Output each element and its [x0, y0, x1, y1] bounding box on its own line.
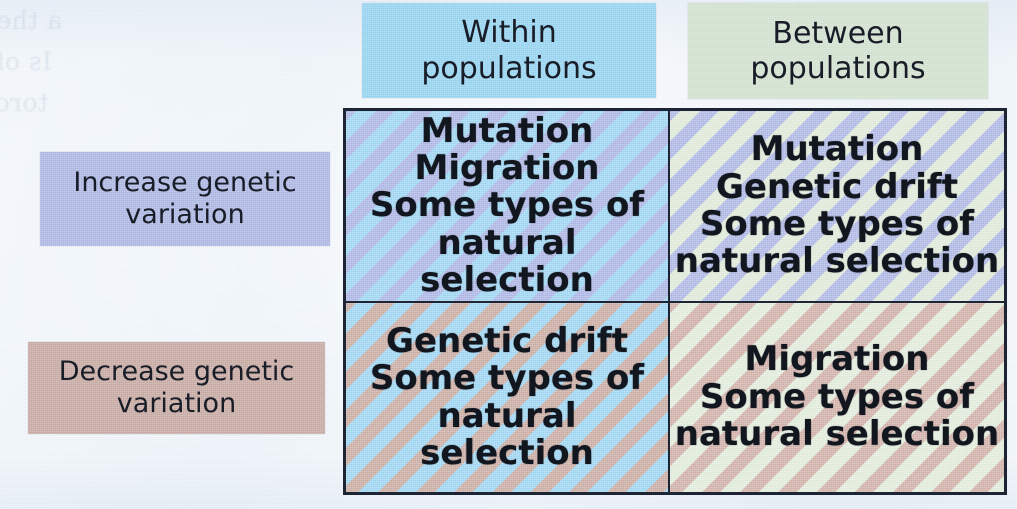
column-header-within-populations: Within populations	[362, 3, 656, 98]
column-header-between-populations: Between populations	[688, 3, 988, 99]
cell-text-line: Some types of	[350, 360, 664, 397]
row-label-increase-line2: variation	[73, 199, 296, 231]
column-header-within-line1: Within	[421, 15, 596, 50]
cell-text-line: Some types of	[675, 379, 999, 416]
cell-text-line: Some types of	[675, 206, 999, 243]
cell-text-line: Genetic drift	[350, 323, 664, 360]
matrix-table: Mutation Migration Some types of natural…	[343, 108, 1007, 495]
cell-text-line: Migration	[350, 150, 664, 187]
cell-text-line: natural selection	[675, 416, 999, 453]
cell-text-line: Mutation	[350, 113, 664, 150]
cell-text-line: Migration	[675, 341, 999, 378]
cell-text-line: natural selection	[675, 243, 999, 280]
cell-increase-between: Mutation Genetic drift Some types of nat…	[670, 111, 1004, 303]
show-through-text-3: toroplasts is about	[0, 88, 48, 117]
cell-text-line: natural selection	[350, 398, 664, 473]
column-header-between-line2: populations	[750, 51, 925, 86]
cell-text-line: Mutation	[675, 131, 999, 168]
row-label-increase-line1: Increase genetic	[73, 167, 296, 199]
cell-decrease-between: Migration Some types of natural selectio…	[670, 303, 1004, 492]
cell-decrease-within-label: Genetic drift Some types of natural sele…	[346, 323, 668, 473]
show-through-text-2: Is of this and	[0, 47, 52, 76]
row-label-decrease-line2: variation	[59, 388, 295, 420]
row-label-decrease-genetic-variation: Decrease genetic variation	[28, 342, 325, 434]
cell-increase-within-label: Mutation Migration Some types of natural…	[346, 113, 668, 300]
show-through-text-1: a therapeutic strategy	[0, 6, 62, 35]
row-label-increase-genetic-variation: Increase genetic variation	[40, 152, 330, 246]
cell-text-line: Some types of	[350, 187, 664, 224]
row-label-decrease-line1: Decrease genetic	[59, 356, 295, 388]
column-header-within-line2: populations	[421, 51, 596, 86]
cell-text-line: natural selection	[350, 225, 664, 300]
cell-increase-within: Mutation Migration Some types of natural…	[346, 111, 670, 303]
cell-decrease-within: Genetic drift Some types of natural sele…	[346, 303, 670, 492]
cell-text-line: Genetic drift	[675, 169, 999, 206]
cell-decrease-between-label: Migration Some types of natural selectio…	[671, 341, 1003, 453]
cell-increase-between-label: Mutation Genetic drift Some types of nat…	[671, 131, 1003, 281]
column-header-between-line1: Between	[750, 16, 925, 51]
